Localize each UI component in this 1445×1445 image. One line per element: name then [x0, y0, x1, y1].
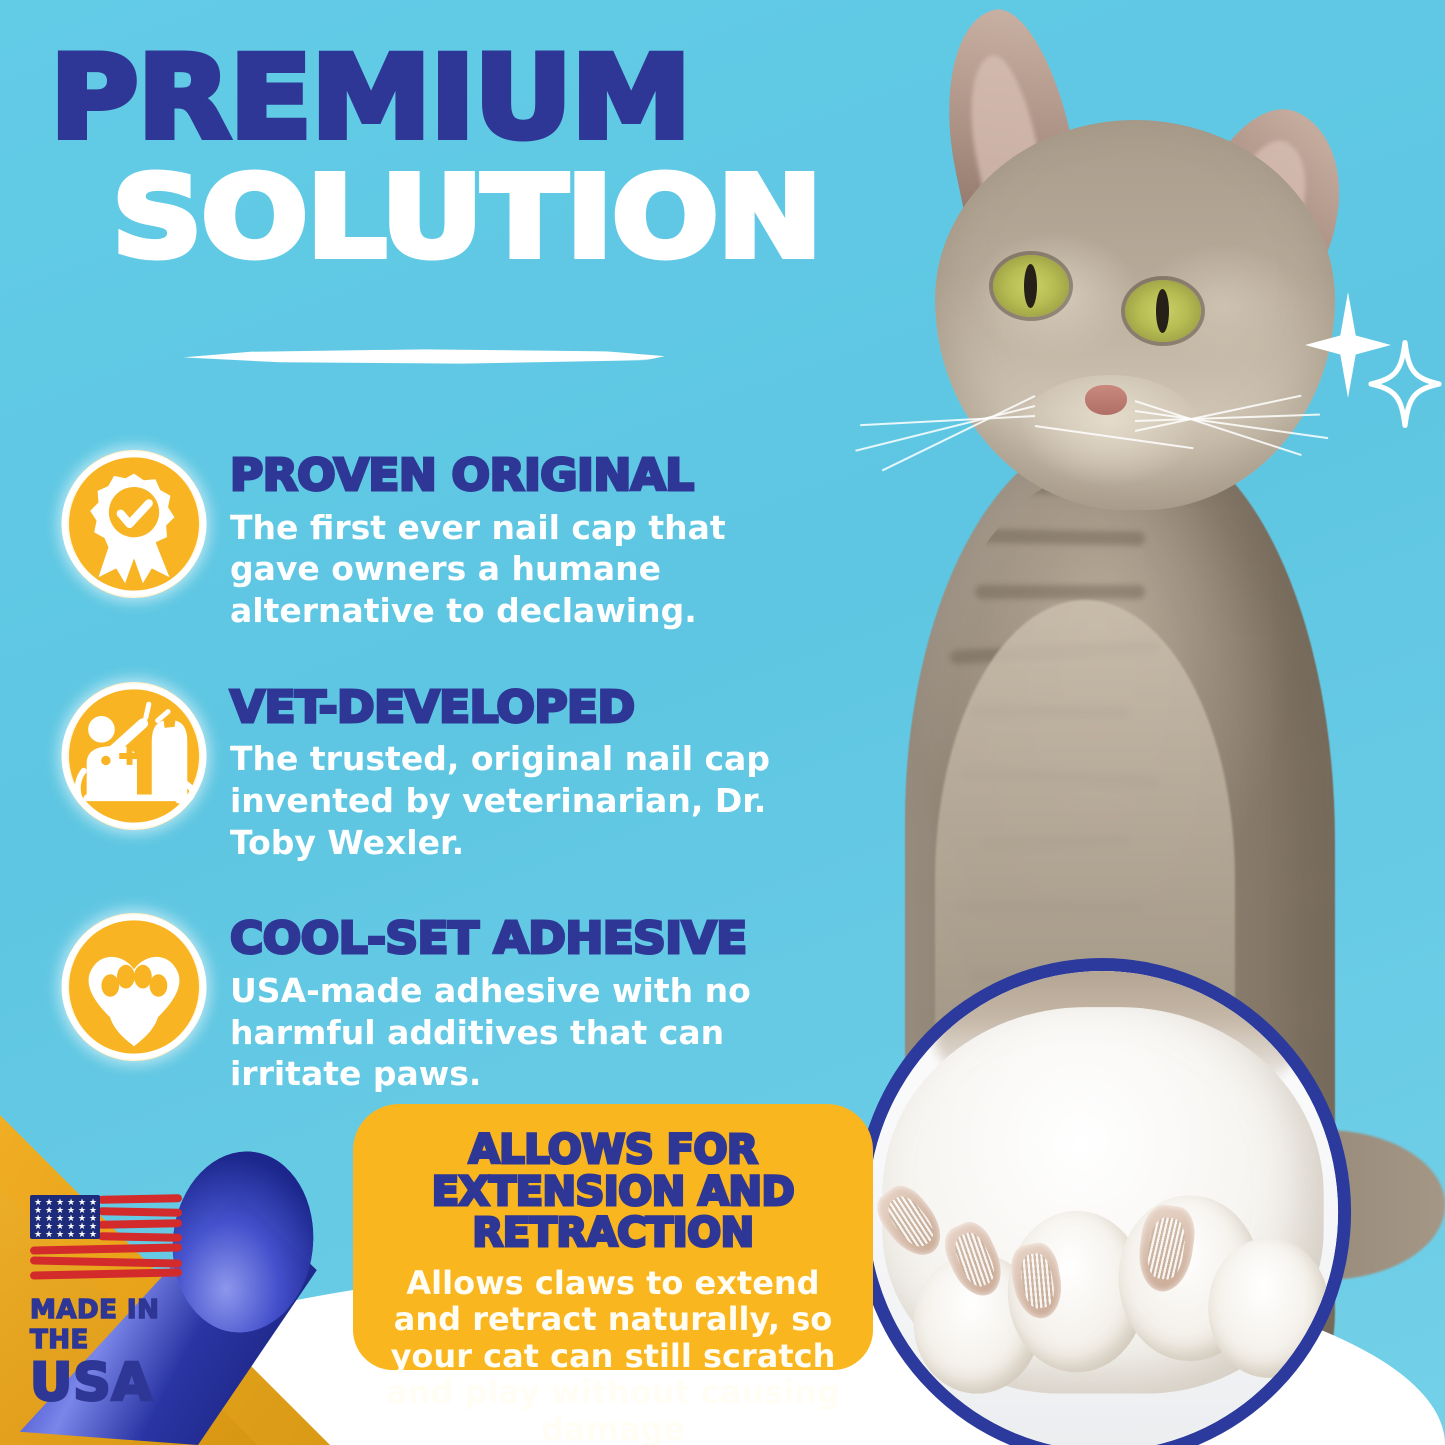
feature-item: COOL-SET ADHESIVE USA-made adhesive with…: [60, 911, 820, 1095]
headline-line-2: SOLUTION: [112, 167, 905, 270]
badge-line-2: USA: [30, 1357, 210, 1409]
cat-paw-with-nail-caps-inset: [830, 933, 1376, 1445]
cat-pupil-left: [1024, 264, 1037, 308]
page-title: PREMIUM SOLUTION: [50, 46, 820, 270]
feature-description: The first ever nail cap that gave owners…: [230, 507, 820, 632]
feature-description: USA-made adhesive with no harmful additi…: [230, 970, 820, 1095]
vet-high-five-cat-icon: [60, 680, 208, 832]
callout-title: ALLOWS FOR EXTENSION AND RETRACTION: [375, 1130, 851, 1255]
promo-banner: PREMIUM SOLUTION PROVEN ORIGINAL The fir…: [0, 0, 1445, 1445]
feature-item: VET-DEVELOPED The trusted, original nail…: [60, 680, 820, 864]
headline-line-1: PREMIUM: [50, 46, 866, 151]
sparkle-star-outline: [1368, 338, 1442, 430]
extension-retraction-callout: ALLOWS FOR EXTENSION AND RETRACTION Allo…: [353, 1104, 873, 1370]
award-ribbon-check-icon: [60, 448, 208, 600]
title-divider: [183, 348, 665, 365]
us-flag-icon: ★★★★★★★★★★★★★★★★★★★★★★★★★★★★★★: [30, 1195, 182, 1281]
cat-eye-left: [993, 255, 1069, 317]
feature-title: PROVEN ORIGINAL: [230, 454, 838, 499]
heart-paw-icon: [60, 911, 208, 1063]
made-in-usa-badge: ★★★★★★★★★★★★★★★★★★★★★★★★★★★★★★ MADE IN T…: [0, 1115, 330, 1445]
feature-list: PROVEN ORIGINAL The first ever nail cap …: [60, 448, 820, 1143]
cat-pupil-right: [1156, 289, 1169, 333]
paw-toe: [1208, 1238, 1329, 1378]
feature-title: VET-DEVELOPED: [230, 686, 838, 731]
badge-line-1: MADE IN THE: [30, 1295, 210, 1355]
feature-description: The trusted, original nail cap invented …: [230, 738, 820, 863]
feature-title: COOL-SET ADHESIVE: [230, 917, 838, 962]
callout-description: Allows claws to extend and retract natur…: [379, 1265, 847, 1445]
cat-nose: [1085, 385, 1127, 415]
cat-eye-right: [1125, 280, 1201, 342]
feature-item: PROVEN ORIGINAL The first ever nail cap …: [60, 448, 820, 632]
